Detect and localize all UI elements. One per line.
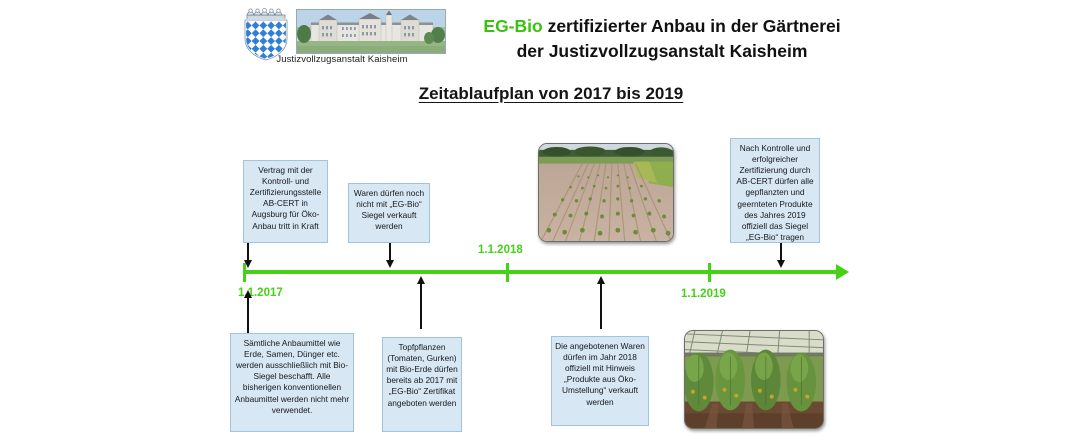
callout-bio-inputs-only: Sämtliche Anbaumittel wie Erde, Samen, D… [230,333,354,432]
callout-certification-2019: Nach Kontrolle und erfolgreicher Zertifi… [730,138,820,243]
timeline-date-2019: 1.1.2019 [681,288,726,300]
jva-kaisheim-building-photo [296,9,446,54]
institution-logo-block: Justizvollzugsanstalt Kaisheim [236,4,448,70]
institution-caption: Justizvollzugsanstalt Kaisheim [236,54,448,65]
callout-oeko-umstellung-2018: Die angebotenen Waren dürfen im Jahr 201… [551,336,649,426]
slide-canvas: Justizvollzugsanstalt Kaisheim EG-Bio ze… [0,0,1092,437]
callout-no-eg-bio-seal-yet: Waren dürfen noch nicht mit „EG-Bio“ Sie… [348,183,430,243]
connector-arrow-contract [244,260,252,268]
page-subtitle: Zeitablaufplan von 2017 bis 2019 [316,84,786,104]
callout-potted-plants-2017: Topfpflanzen (Tomaten, Gurken) mit Bio-E… [382,337,462,432]
page-title-line2: der Justizvollzugsanstalt Kaisheim [517,41,808,61]
connector-arrow-no-seal [386,260,394,268]
connector-line-umstellung [600,283,602,329]
page-title-rest: zertifizierter Anbau in der Gärtnerei [543,16,841,36]
field-seedling-rows-photo [538,143,674,242]
timeline-date-2018: 1.1.2018 [478,244,523,256]
greenhouse-tomato-rows-photo [684,330,824,429]
connector-arrow-bio-inputs [244,290,252,298]
timeline-tick-2019 [708,263,711,282]
page-title: EG-Bio zertifizierter Anbau in der Gärtn… [452,14,872,64]
connector-line-potted [420,283,422,329]
page-title-accent: EG-Bio [483,16,542,36]
connector-arrow-umstellung [597,276,605,284]
connector-arrow-potted [417,276,425,284]
connector-arrow-certification [777,260,785,268]
bavaria-coat-of-arms-icon [240,6,292,61]
timeline-arrowhead-icon [836,264,849,280]
timeline-axis [243,270,839,274]
callout-contract-ab-cert: Vertrag mit der Kontroll- und Zertifizie… [243,160,328,243]
connector-line-bio-inputs [247,297,249,333]
timeline-tick-2018 [506,263,509,282]
